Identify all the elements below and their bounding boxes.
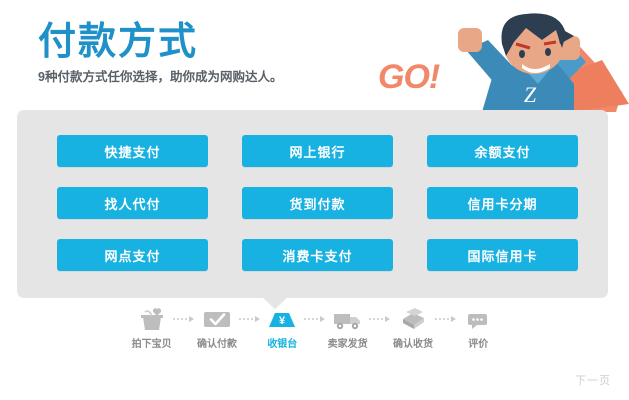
svg-text:Z: Z <box>524 82 537 107</box>
payment-button-wangyin[interactable]: 网上银行 <box>242 135 393 167</box>
step-connector <box>173 306 195 332</box>
step-label: 确认收货 <box>393 335 433 350</box>
payment-button-xinyongka-fenqi[interactable]: 信用卡分期 <box>427 187 578 219</box>
page-subtitle: 9种付款方式任你选择，助你成为网购达人。 <box>38 68 368 86</box>
speech-bubble-icon <box>464 306 492 332</box>
payment-button-daifu[interactable]: 找人代付 <box>57 187 208 219</box>
step-shouyintai[interactable]: ¥ 收银台 <box>261 306 304 350</box>
payment-methods-panel: 快捷支付 网上银行 余额支付 找人代付 货到付款 信用卡分期 网点支付 消费卡支… <box>17 110 608 298</box>
step-label: 确认付款 <box>197 335 237 350</box>
step-label: 拍下宝贝 <box>132 335 172 350</box>
payment-methods-page: 付款方式 9种付款方式任你选择，助你成为网购达人。 GO! <box>0 0 629 400</box>
payment-button-xiaofeika[interactable]: 消费卡支付 <box>242 239 393 271</box>
step-queren-shouhuo[interactable]: 确认收货 <box>391 306 434 350</box>
order-step-flow: 拍下宝贝 确认付款 <box>130 306 500 350</box>
shopping-basket-heart-icon <box>137 306 167 332</box>
checkmark-badge-icon <box>201 306 233 332</box>
svg-text:¥: ¥ <box>279 315 286 327</box>
package-box-icon <box>397 306 429 332</box>
page-header: 付款方式 9种付款方式任你选择，助你成为网购达人。 <box>38 20 368 86</box>
payment-button-yue[interactable]: 余额支付 <box>427 135 578 167</box>
step-paixia-baobei[interactable]: 拍下宝贝 <box>130 306 173 350</box>
payment-button-wangdian[interactable]: 网点支付 <box>57 239 208 271</box>
payment-button-grid: 快捷支付 网上银行 余额支付 找人代付 货到付款 信用卡分期 网点支付 消费卡支… <box>57 135 580 271</box>
step-label: 收银台 <box>267 335 297 350</box>
hero-illustration: GO! Z <box>370 0 629 118</box>
step-label: 评价 <box>468 335 488 350</box>
step-connector <box>435 306 457 332</box>
go-text: GO! <box>378 60 439 94</box>
step-queren-fukuan[interactable]: 确认付款 <box>195 306 238 350</box>
step-maijia-fahuo[interactable]: 卖家发货 <box>326 306 369 350</box>
page-title: 付款方式 <box>38 20 368 64</box>
step-label: 卖家发货 <box>328 335 368 350</box>
payment-button-kuaijie[interactable]: 快捷支付 <box>57 135 208 167</box>
next-page-link[interactable]: 下一页 <box>575 372 611 388</box>
step-connector <box>239 306 261 332</box>
step-connector <box>304 306 326 332</box>
delivery-truck-icon <box>331 306 365 332</box>
step-pingjia[interactable]: 评价 <box>457 306 500 350</box>
payment-button-huodao[interactable]: 货到付款 <box>242 187 393 219</box>
step-connector <box>369 306 391 332</box>
cashier-desk-yen-icon: ¥ <box>265 306 299 332</box>
payment-button-guoji-xinyongka[interactable]: 国际信用卡 <box>427 239 578 271</box>
